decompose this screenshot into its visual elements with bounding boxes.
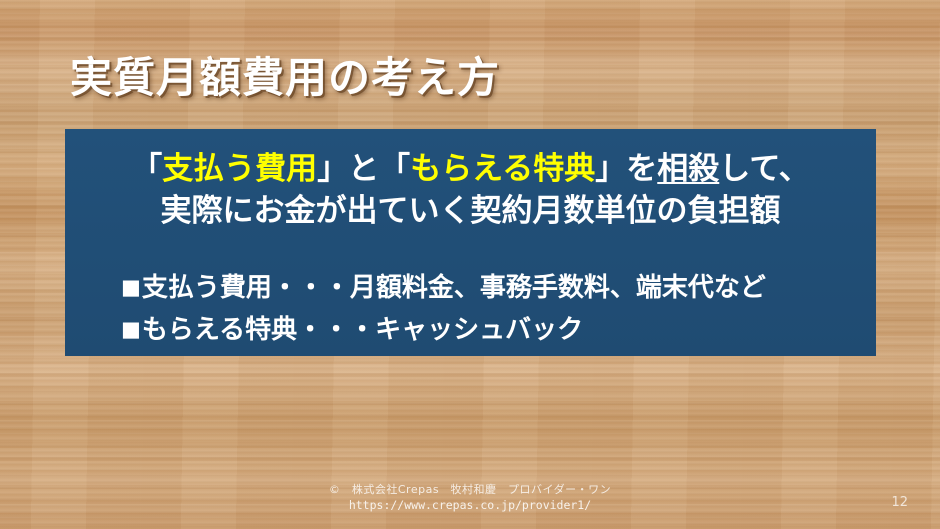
footer-credit-text: © 株式会社Crepas 牧村和慶 プロバイダー・ワン [0,483,940,498]
headline-highlight-payments: 支払う費用 [162,151,317,187]
bullet-item-payments: ■支払う費用・・・月額料金、事務手数料、端末代など [121,267,766,304]
slide-canvas: 実質月額費用の考え方 「支払う費用」と「もらえる特典」を相殺して、 実際にお金が… [0,0,940,529]
bullet-item-benefits: ■もらえる特典・・・キャッシュバック [121,309,583,346]
content-panel: 「支払う費用」と「もらえる特典」を相殺して、 実際にお金が出ていく契約月数単位の… [65,129,876,356]
headline-suffix: して、 [719,151,810,187]
page-title: 実質月額費用の考え方 [70,44,500,105]
headline-line-1: 「支払う費用」と「もらえる特典」を相殺して、 [65,143,876,188]
bullet-label-benefits: もらえる特典・・・キャッシュバック [142,315,583,345]
footer: © 株式会社Crepas 牧村和慶 プロバイダー・ワン https://www.… [0,483,940,513]
footer-url-link[interactable]: https://www.crepas.co.jp/provider1/ [0,498,940,514]
square-bullet-icon: ■ [121,275,141,299]
headline-underlined-offset: 相殺 [657,151,719,187]
square-bullet-icon: ■ [121,317,141,341]
bullet-label-payments: 支払う費用・・・月額料金、事務手数料、端末代など [142,273,766,303]
headline-highlight-benefits: もらえる特典 [410,151,595,187]
headline-bracket-open-1: 「 [131,151,162,187]
headline-bracket-close-2: 」を [595,151,657,187]
headline-connector: 」と「 [317,151,410,187]
headline-line-2: 実際にお金が出ていく契約月数単位の負担額 [65,185,876,230]
page-number: 12 [891,495,908,510]
